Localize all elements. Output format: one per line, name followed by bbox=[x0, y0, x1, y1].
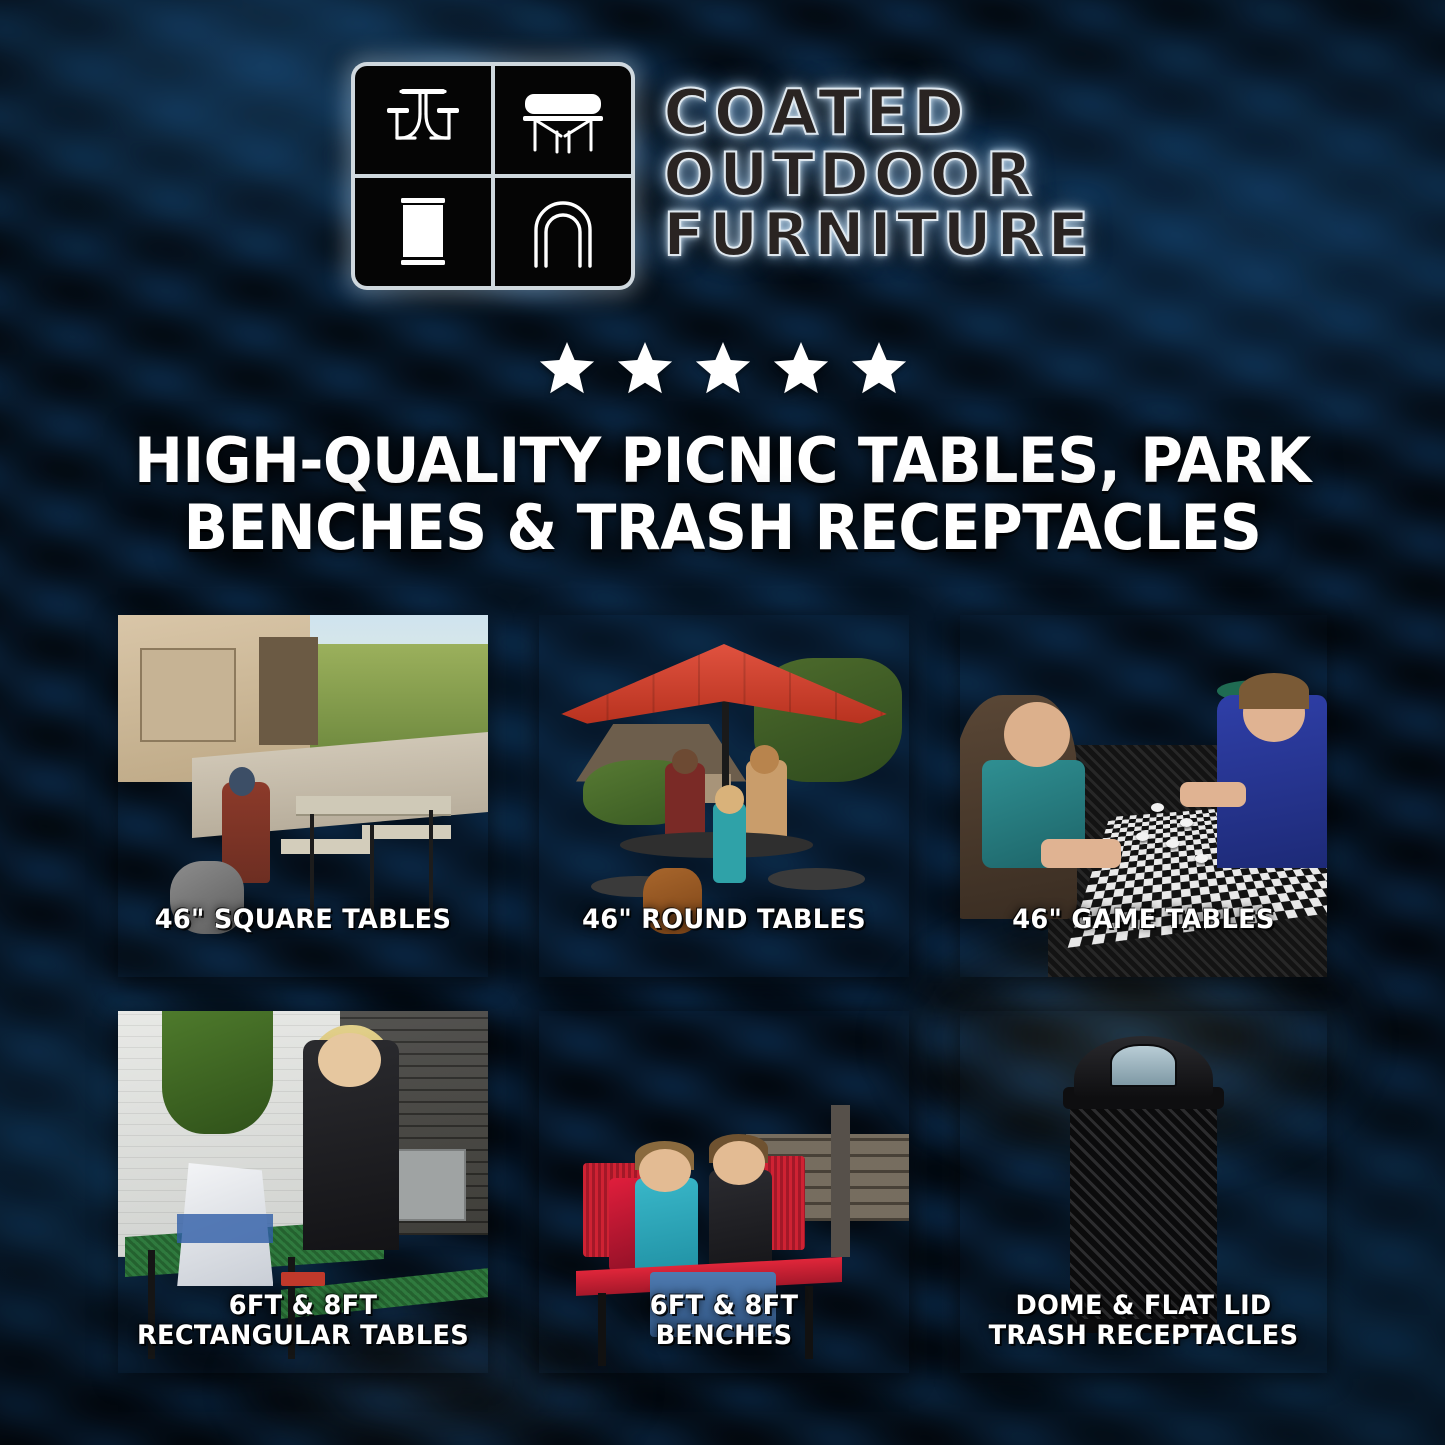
product-card-game-tables[interactable]: 46" GAME TABLES bbox=[960, 615, 1327, 977]
scene-person-head bbox=[229, 767, 255, 796]
logo-icon-grid bbox=[351, 62, 635, 290]
star-icon bbox=[614, 338, 676, 398]
product-caption-rectangular-tables: 6FT & 8FT RECTANGULAR TABLES bbox=[127, 1291, 479, 1351]
scene-boy-hair bbox=[1239, 673, 1309, 709]
brand-line-1: COATED bbox=[663, 83, 1093, 144]
product-card-square-tables[interactable]: 46" SQUARE TABLES bbox=[118, 615, 488, 977]
product-card-benches[interactable]: 6FT & 8FT BENCHES bbox=[539, 1011, 909, 1373]
scene-game-piece bbox=[1180, 818, 1193, 827]
brand-line-2: OUTDOOR bbox=[663, 146, 1093, 205]
scene-boy-head bbox=[713, 1141, 765, 1184]
scene-bench-near bbox=[281, 839, 370, 853]
product-caption-game-tables: 46" GAME TABLES bbox=[969, 905, 1318, 935]
scene-table-leg bbox=[429, 810, 433, 919]
caption-line-2: RECTANGULAR TABLES bbox=[127, 1321, 479, 1351]
scene-boy bbox=[635, 1178, 698, 1279]
caption-line-1: DOME & FLAT LID bbox=[969, 1291, 1318, 1321]
product-card-trash-receptacles[interactable]: DOME & FLAT LID TRASH RECEPTACLES bbox=[960, 1011, 1327, 1373]
caption-line-1: 6FT & 8FT bbox=[127, 1291, 479, 1321]
product-caption-trash-receptacles: DOME & FLAT LID TRASH RECEPTACLES bbox=[969, 1291, 1318, 1351]
scene-bench-far bbox=[362, 825, 451, 839]
star-icon bbox=[848, 338, 910, 398]
product-caption-round-tables: 46" ROUND TABLES bbox=[548, 905, 900, 935]
product-card-round-tables[interactable]: 46" ROUND TABLES bbox=[539, 615, 909, 977]
scene-dome-opening bbox=[1110, 1044, 1176, 1087]
caption-line-1: 6FT & 8FT bbox=[548, 1291, 900, 1321]
scene-person bbox=[665, 763, 706, 843]
headline-line-1: HIGH-QUALITY PICNIC TABLES, PARK bbox=[100, 428, 1346, 495]
caption-line-1: 46" SQUARE TABLES bbox=[127, 905, 479, 935]
headline-line-2: BENCHES & TRASH RECEPTACLES bbox=[100, 495, 1346, 562]
brand-wordmark: COATED OUTDOOR FURNITURE bbox=[663, 83, 1093, 269]
scene-child bbox=[713, 803, 746, 883]
page-title: HIGH-QUALITY PICNIC TABLES, PARK BENCHES… bbox=[100, 428, 1346, 562]
caption-line-2: BENCHES bbox=[548, 1321, 900, 1351]
product-grid: 46" SQUARE TABLES bbox=[118, 615, 1327, 1373]
caption-line-1: 46" ROUND TABLES bbox=[548, 905, 900, 935]
star-icon bbox=[536, 338, 598, 398]
scene-woman-head bbox=[1004, 702, 1070, 767]
scene-garage-door bbox=[140, 648, 236, 742]
scene-vine bbox=[162, 1011, 273, 1134]
five-star-rating bbox=[0, 338, 1445, 398]
scene-bag-label bbox=[177, 1214, 273, 1243]
scene-woman-head bbox=[318, 1033, 381, 1087]
scene-game-piece bbox=[1195, 854, 1208, 863]
product-card-rectangular-tables[interactable]: 6FT & 8FT RECTANGULAR TABLES bbox=[118, 1011, 488, 1373]
product-caption-square-tables: 46" SQUARE TABLES bbox=[127, 905, 479, 935]
star-icon bbox=[692, 338, 754, 398]
scene-round-seat bbox=[768, 868, 864, 890]
scene-arm bbox=[1041, 839, 1122, 868]
brand-logo: COATED OUTDOOR FURNITURE bbox=[0, 62, 1445, 290]
product-caption-benches: 6FT & 8FT BENCHES bbox=[548, 1291, 900, 1351]
scene-boy-head bbox=[639, 1149, 691, 1192]
picnic-table-icon bbox=[355, 66, 491, 174]
brand-line-3: FURNITURE bbox=[663, 206, 1093, 265]
trash-receptacle-icon bbox=[355, 178, 491, 286]
scene-arm bbox=[1180, 782, 1246, 807]
caption-line-2: TRASH RECEPTACLES bbox=[969, 1321, 1318, 1351]
poster-content: COATED OUTDOOR FURNITURE HIGH-QUALITY PI… bbox=[0, 0, 1445, 1445]
bike-rack-icon bbox=[495, 178, 631, 286]
scene-table-top bbox=[296, 796, 451, 814]
bench-icon bbox=[495, 66, 631, 174]
caption-line-1: 46" GAME TABLES bbox=[969, 905, 1318, 935]
scene-window bbox=[259, 637, 318, 746]
star-icon bbox=[770, 338, 832, 398]
scene-garden-tool bbox=[281, 1272, 325, 1286]
scene-fence-post bbox=[831, 1105, 850, 1257]
